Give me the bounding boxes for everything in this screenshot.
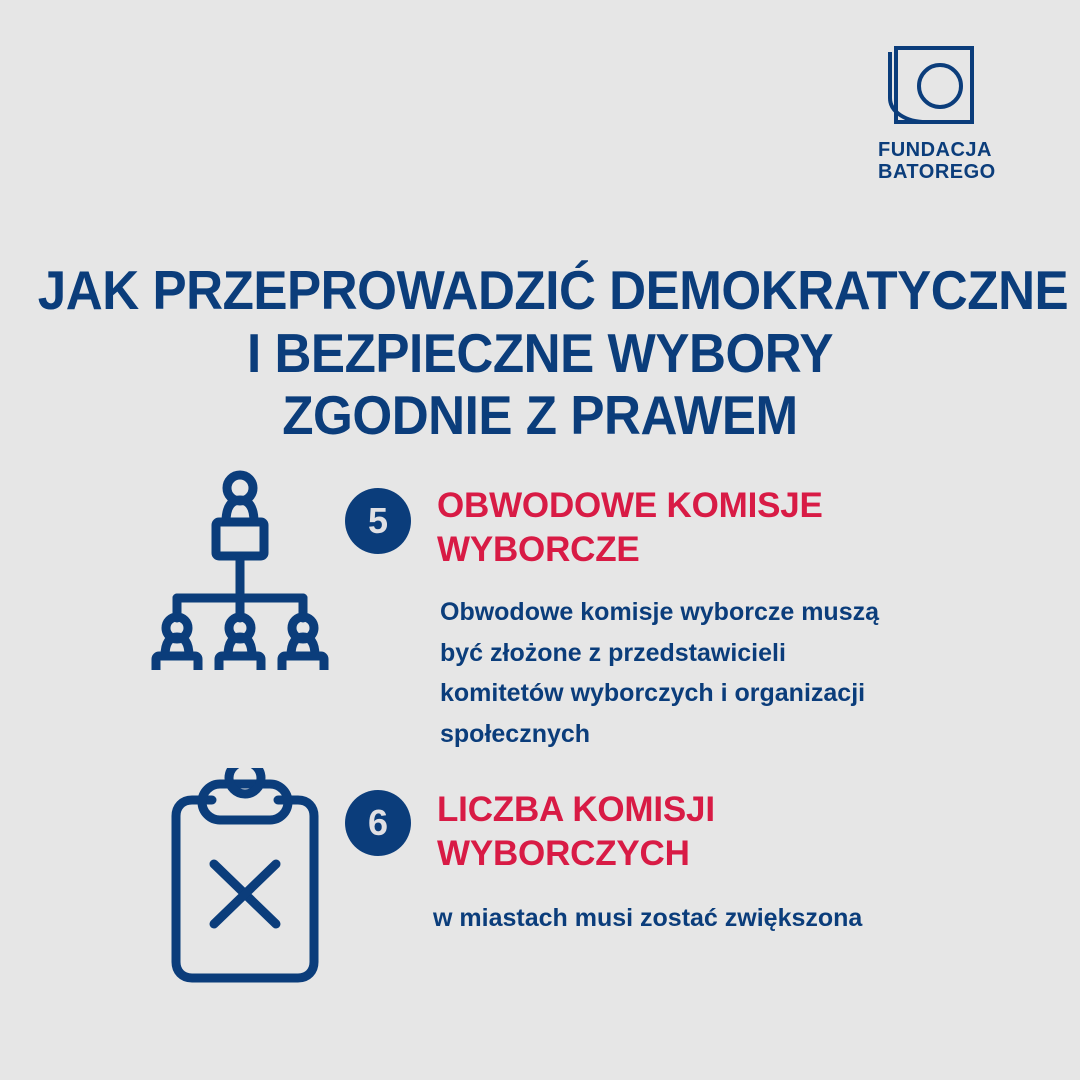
- section-heading-5-line2: WYBORCZE: [437, 528, 997, 572]
- logo-wordmark: FUNDACJA BATOREGO: [878, 140, 996, 183]
- step-number-badge-6: 6: [345, 790, 411, 856]
- logo-block: FUNDACJA BATOREGO: [878, 44, 1038, 183]
- page-title: JAK PRZEPROWADZIĆ DEMOKRATYCZNE I BEZPIE…: [38, 259, 1042, 447]
- clipboard-x-icon: [160, 768, 330, 988]
- section-body-6-line1: w miastach musi zostać zwiększona: [433, 898, 953, 939]
- section-heading-6-line2: WYBORCZYCH: [437, 832, 997, 876]
- fundacja-batorego-logo-mark: [886, 44, 982, 130]
- section-obwodowe-komisje-wyborcze: 5 OBWODOWE KOMISJE WYBORCZE Obwodowe kom…: [0, 470, 1080, 750]
- section-liczba-komisji-wyborczych: 6 LICZBA KOMISJI WYBORCZYCH w miastach m…: [0, 768, 1080, 1008]
- section-heading-6: LICZBA KOMISJI WYBORCZYCH: [437, 788, 997, 876]
- org-chart-icon: [140, 470, 340, 670]
- infographic-page: FUNDACJA BATOREGO JAK PRZEPROWADZIĆ DEMO…: [0, 0, 1080, 1080]
- page-title-line2: I BEZPIECZNE WYBORY: [38, 322, 1042, 385]
- section-body-5-line3: komitetów wyborczych i organizacji: [440, 673, 960, 714]
- logo-wordmark-line2: BATOREGO: [878, 162, 996, 184]
- section-heading-6-line1: LICZBA KOMISJI: [437, 788, 997, 832]
- page-title-line3: ZGODNIE Z PRAWEM: [38, 384, 1042, 447]
- logo-wordmark-line1: FUNDACJA: [878, 140, 996, 162]
- step-number-badge-5: 5: [345, 488, 411, 554]
- section-heading-5-line1: OBWODOWE KOMISJE: [437, 484, 997, 528]
- section-body-5-line4: społecznych: [440, 714, 960, 755]
- section-body-5-line2: być złożone z przedstawicieli: [440, 633, 960, 674]
- section-heading-5: OBWODOWE KOMISJE WYBORCZE: [437, 484, 997, 572]
- page-title-line1: JAK PRZEPROWADZIĆ DEMOKRATYCZNE: [38, 259, 1042, 322]
- section-body-5: Obwodowe komisje wyborcze muszą być złoż…: [440, 592, 960, 754]
- section-body-5-line1: Obwodowe komisje wyborcze muszą: [440, 592, 960, 633]
- section-body-6: w miastach musi zostać zwiększona: [433, 898, 953, 939]
